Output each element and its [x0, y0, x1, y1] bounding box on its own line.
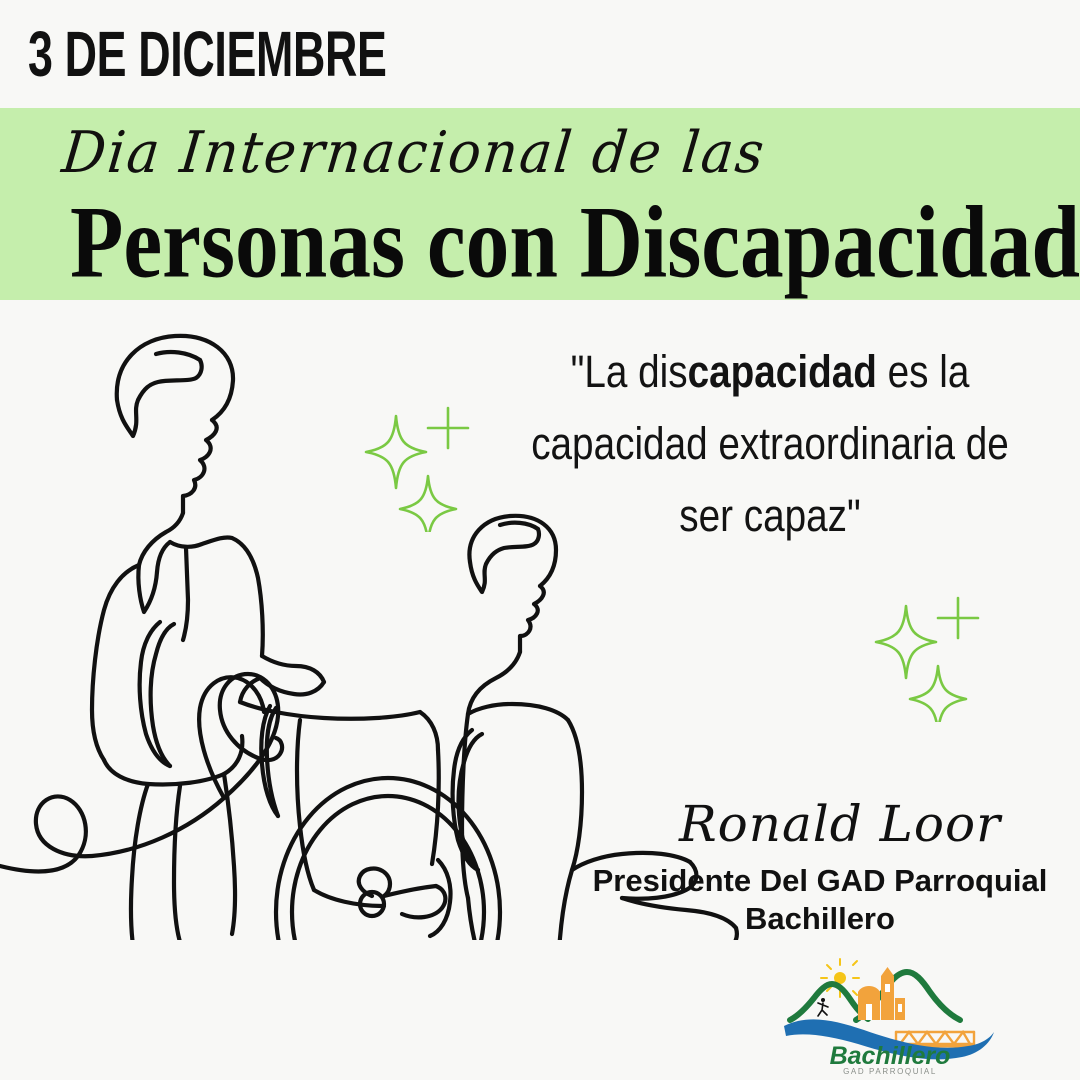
svg-text:Bachillero: Bachillero [830, 1042, 951, 1070]
bachillero-logo: Bachillero GAD PARROQUIAL [778, 958, 1002, 1076]
banner-script-line: Dia Internacional de las [59, 120, 769, 186]
signature-role-line-1: Presidente Del GAD Parroquial [560, 862, 1080, 900]
date-heading: 3 DE DICIEMBRE [28, 22, 387, 86]
banner-title-line: Personas con Discapacidad [70, 186, 1080, 298]
title-banner: Dia Internacional de las Personas con Di… [0, 108, 1080, 300]
sparkle-group-left [362, 402, 482, 532]
sparkle-group-right [872, 592, 992, 722]
poster-canvas: 3 DE DICIEMBRE Dia Internacional de las … [0, 0, 1080, 1080]
signature-role: Presidente Del GAD Parroquial Bachillero [560, 862, 1080, 938]
signature-name: Ronald Loor [600, 795, 1080, 853]
signature-role-line-2: Bachillero [560, 900, 1080, 938]
svg-text:GAD PARROQUIAL: GAD PARROQUIAL [843, 1067, 937, 1076]
